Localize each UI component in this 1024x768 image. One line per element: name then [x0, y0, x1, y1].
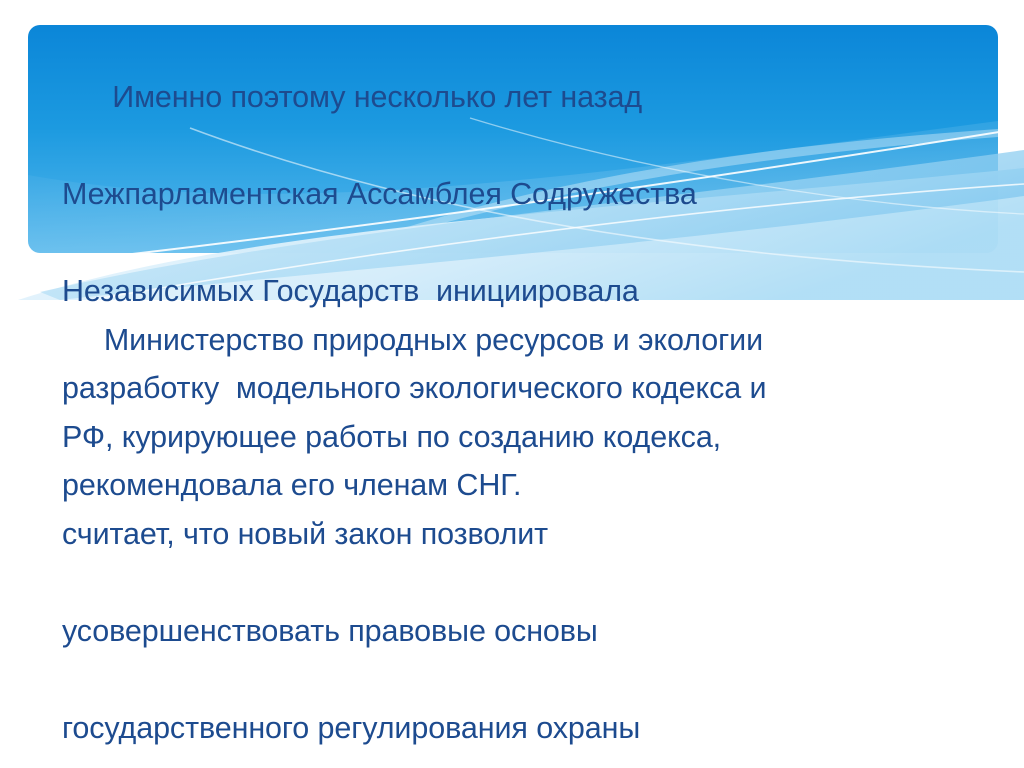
paragraph-2-line-2: РФ, курирующее работы по созданию кодекс…	[62, 413, 967, 462]
slide-text-layer: Именно поэтому несколько лет назад Межпа…	[0, 0, 1024, 768]
presentation-slide: Именно поэтому несколько лет назад Межпа…	[0, 0, 1024, 768]
paragraph-2-line-4: усовершенствовать правовые основы	[62, 607, 967, 656]
paragraph-2-line-1: Министерство природных ресурсов и эколог…	[62, 316, 967, 365]
paragraph-2-line-3: считает, что новый закон позволит	[62, 510, 967, 559]
paragraph-1-line-1: Именно поэтому несколько лет назад	[62, 73, 967, 122]
paragraph-2-line-5: государственного регулирования охраны	[62, 704, 967, 753]
paragraph-1-line-2: Межпарламентская Ассамблея Содружества	[62, 170, 967, 219]
paragraph-2: Министерство природных ресурсов и эколог…	[62, 267, 967, 768]
